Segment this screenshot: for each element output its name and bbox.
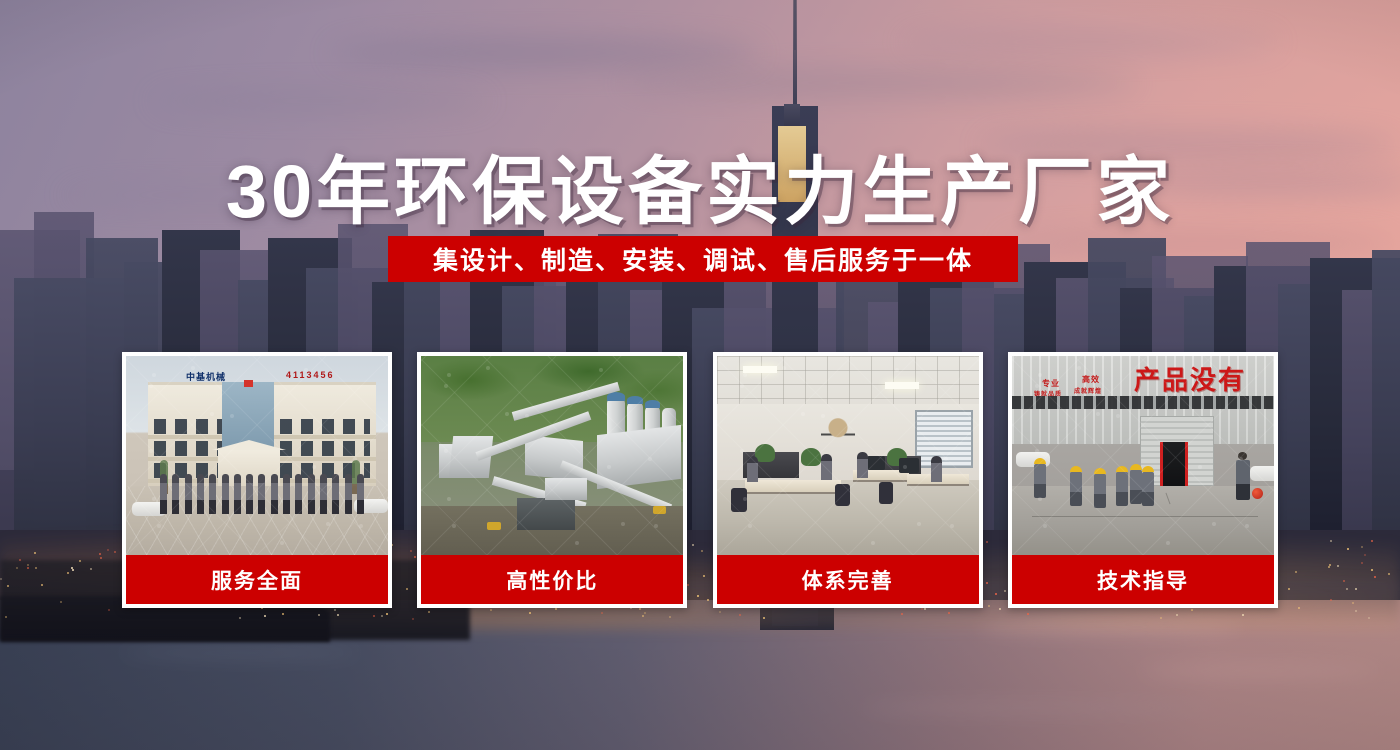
hero-banner: 30年环保设备实力生产厂家 集设计、制造、安装、调试、售后服务于一体 中基机械	[0, 0, 1400, 750]
worker-uniform	[1116, 472, 1128, 506]
staff-member	[345, 474, 352, 514]
office-worker	[857, 452, 868, 478]
card-caption-text: 体系完善	[802, 565, 894, 595]
flag	[244, 380, 253, 387]
company-headquarters-photo: 中基机械 4113456	[126, 356, 388, 555]
card-caption-text: 服务全面	[211, 565, 303, 595]
office-worker	[821, 454, 832, 480]
office-chair	[835, 484, 850, 506]
staff-member	[320, 474, 327, 514]
staff-member	[172, 474, 179, 514]
silo-cap	[627, 396, 643, 404]
water-reflection	[1140, 665, 1380, 677]
factory-worker	[1116, 466, 1128, 506]
parked-car	[1250, 466, 1274, 481]
tower-spire-tip	[794, 0, 796, 50]
office-desk	[745, 480, 841, 494]
monitor	[899, 458, 919, 473]
staff-member	[160, 474, 167, 514]
staff-member	[197, 474, 204, 514]
feature-card-list: 中基机械 4113456 服务全面	[122, 352, 1278, 608]
staff-member	[295, 474, 302, 514]
staff-member	[271, 474, 278, 514]
monitor	[867, 456, 885, 470]
company-phone-text: 4113456	[286, 370, 335, 380]
potted-plant	[801, 448, 821, 466]
card-caption-text: 技术指导	[1097, 565, 1189, 595]
wall-slogan-text: 产品没有	[1134, 360, 1246, 397]
company-sign-text: 中基机械	[186, 370, 226, 383]
subtitle-banner: 集设计、制造、安装、调试、售后服务于一体	[388, 236, 1018, 282]
skyline-building	[14, 278, 124, 530]
card-caption-bar: 高性价比	[421, 555, 683, 604]
silo-cap	[645, 400, 660, 408]
water-reflection	[120, 648, 360, 658]
clerestory-windows	[1012, 396, 1274, 409]
staff-member	[283, 474, 290, 514]
staff-member	[357, 474, 364, 514]
card-caption-text: 高性价比	[506, 565, 598, 595]
supervisor	[1236, 452, 1250, 500]
staff-member	[332, 474, 339, 514]
wall-word-text: 高效	[1082, 374, 1100, 385]
office-worker	[747, 456, 758, 482]
worker-uniform	[1034, 464, 1046, 498]
subtitle-text: 集设计、制造、安装、调试、售后服务于一体	[433, 241, 973, 277]
ceiling-light	[743, 366, 777, 373]
staff-member	[258, 474, 265, 514]
worker-uniform	[1070, 472, 1082, 506]
factory-worker	[1094, 468, 1106, 508]
staff-member	[222, 474, 229, 514]
feature-card[interactable]: 中基机械 4113456 服务全面	[122, 352, 392, 608]
staff-member	[209, 474, 216, 514]
staff-member	[246, 474, 253, 514]
wall-word-text: 成就辉煌	[1074, 386, 1102, 395]
dark-roof-shed	[517, 498, 575, 530]
factory-worker	[1034, 458, 1046, 498]
excavator	[653, 506, 666, 514]
window-blinds	[915, 410, 973, 468]
worker-uniform	[1142, 472, 1154, 506]
potted-plant	[755, 444, 775, 462]
factory-worker	[1130, 464, 1142, 504]
feature-card[interactable]: 产品没有 专业 高效 铸就品质 成就辉煌	[1008, 352, 1278, 608]
plant-hall	[545, 478, 587, 500]
drop-ceiling	[717, 356, 979, 404]
aerial-plant-photo	[421, 356, 683, 555]
office-interior-photo	[717, 356, 979, 555]
worker-uniform	[1094, 474, 1106, 508]
feature-card[interactable]: 高性价比	[417, 352, 687, 608]
office-chair	[879, 482, 893, 504]
page-title: 30年环保设备实力生产厂家	[0, 132, 1400, 239]
workshop-team-photo: 产品没有 专业 高效 铸就品质 成就辉煌	[1012, 356, 1274, 555]
card-caption-bar: 服务全面	[126, 555, 388, 604]
skyline-building	[1372, 250, 1400, 530]
staff-member	[185, 474, 192, 514]
water-reflection	[860, 700, 1220, 716]
factory-worker	[1142, 466, 1154, 506]
factory-worker	[1070, 466, 1082, 506]
card-caption-bar: 体系完善	[717, 555, 979, 604]
card-caption-bar: 技术指导	[1012, 555, 1274, 604]
factory-doorway	[1160, 442, 1188, 488]
wall-word-text: 专业	[1042, 378, 1060, 389]
staff-member	[234, 474, 241, 514]
staff-member	[308, 474, 315, 514]
ceiling-light	[885, 382, 919, 389]
wall-decal	[821, 416, 855, 444]
office-worker	[931, 456, 942, 482]
worker-uniform	[1130, 470, 1142, 504]
red-helmet	[1252, 488, 1263, 499]
feature-card[interactable]: 体系完善	[713, 352, 983, 608]
office-chair	[731, 488, 747, 512]
excavator	[487, 522, 501, 530]
